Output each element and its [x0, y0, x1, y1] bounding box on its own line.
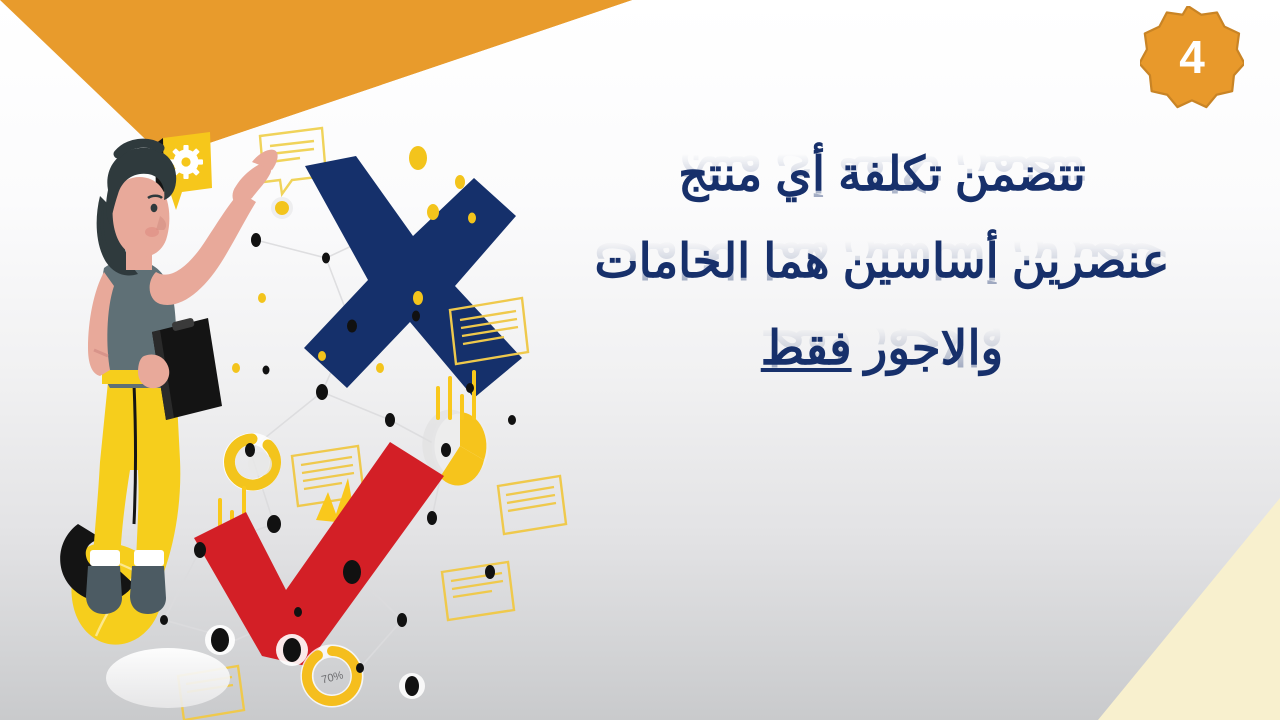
floor-ellipse	[106, 648, 230, 708]
illustration-svg: 70%	[60, 120, 580, 720]
slide-number-badge: 4	[1140, 6, 1244, 110]
illustration-woman-data: 70%	[60, 120, 580, 720]
headline-line-3: والاجور فقط والاجور فقط	[522, 324, 1242, 371]
headline-line-2-text: عنصرين أساسين هما الخامات	[594, 237, 1169, 284]
headline-line-1-text: تتضمن تكلفة أي منتج	[678, 150, 1085, 197]
bottom-right-cream-shape	[1098, 498, 1280, 720]
document-icon	[498, 476, 566, 534]
donut-chart-icon: 70%	[307, 651, 357, 701]
slide-canvas: 70%	[0, 0, 1280, 720]
document-icon	[442, 562, 514, 620]
donut-value-label: 70%	[320, 669, 344, 686]
headline-block: تتضمن تكلفة أي منتج تتضمن تكلفة أي منتج …	[522, 150, 1242, 371]
node-dot-yellow	[273, 199, 291, 217]
cross-mark-icon	[304, 156, 522, 398]
headline-underlined-word: فقط	[761, 321, 852, 374]
headline-line-2: عنصرين أساسين هما الخامات عنصرين أساسين …	[522, 237, 1242, 284]
headline-line-3-text: والاجور فقط	[761, 324, 1004, 371]
headline-line-3-plain: والاجور فقط	[761, 321, 1004, 374]
headline-line-1: تتضمن تكلفة أي منتج تتضمن تكلفة أي منتج	[522, 150, 1242, 197]
slide-number-value: 4	[1140, 6, 1244, 110]
